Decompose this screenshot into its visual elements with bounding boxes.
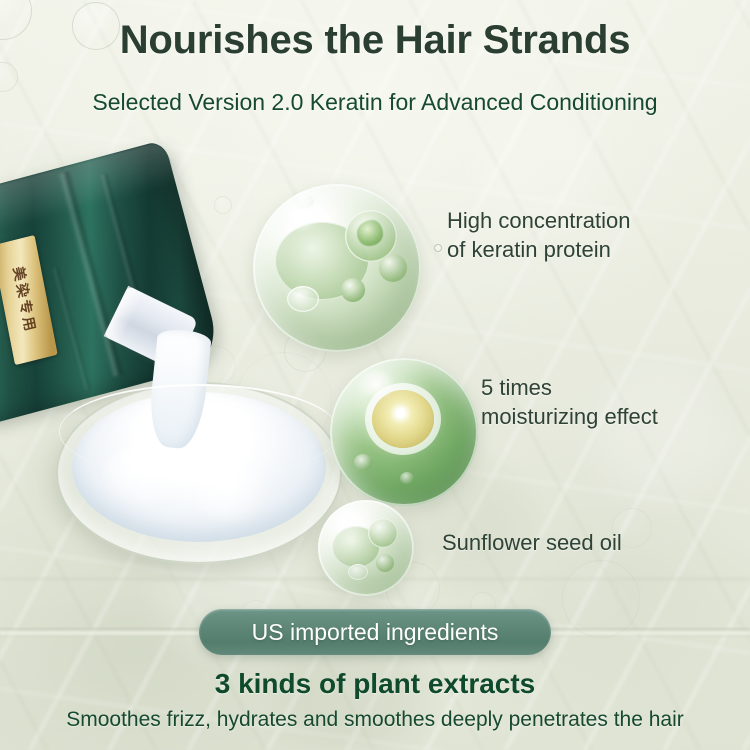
background-bubble-ring bbox=[0, 62, 18, 92]
glass-dish bbox=[56, 382, 342, 564]
page-title: Nourishes the Hair Strands bbox=[0, 18, 750, 63]
bubble-shell bbox=[318, 500, 414, 596]
status-badge: US imported ingredients bbox=[199, 609, 551, 655]
background-bubble-ring bbox=[214, 196, 232, 214]
sunflower-bubble bbox=[318, 500, 414, 596]
callout-moisturizing-line2: moisturizing effect bbox=[481, 402, 658, 431]
page-subtitle: Selected Version 2.0 Keratin for Advance… bbox=[0, 89, 750, 116]
bubble-shell bbox=[253, 184, 421, 352]
callout-moisturizing: 5 times moisturizing effect bbox=[481, 373, 658, 431]
background-bubble-ring bbox=[562, 560, 640, 638]
product-poster: Nourishes the Hair Strands Selected Vers… bbox=[0, 0, 750, 750]
callout-keratin-line2: of keratin protein bbox=[447, 235, 630, 264]
footer-subline: Smoothes frizz, hydrates and smoothes de… bbox=[0, 708, 750, 732]
callout-keratin: High concentration of keratin protein bbox=[447, 206, 630, 264]
footer-headline: 3 kinds of plant extracts bbox=[0, 668, 750, 700]
callout-sunflower-line1: Sunflower seed oil bbox=[442, 530, 622, 555]
dish-rim bbox=[59, 384, 339, 479]
callout-dot-marker bbox=[434, 244, 442, 252]
moisturizing-bubble bbox=[330, 358, 478, 506]
keratin-bubble bbox=[253, 184, 421, 352]
callout-keratin-line1: High concentration bbox=[447, 208, 630, 233]
bubble-shell bbox=[330, 358, 478, 506]
callout-moisturizing-line1: 5 times bbox=[481, 375, 552, 400]
status-badge-label: US imported ingredients bbox=[252, 619, 499, 646]
callout-sunflower: Sunflower seed oil bbox=[442, 528, 622, 557]
